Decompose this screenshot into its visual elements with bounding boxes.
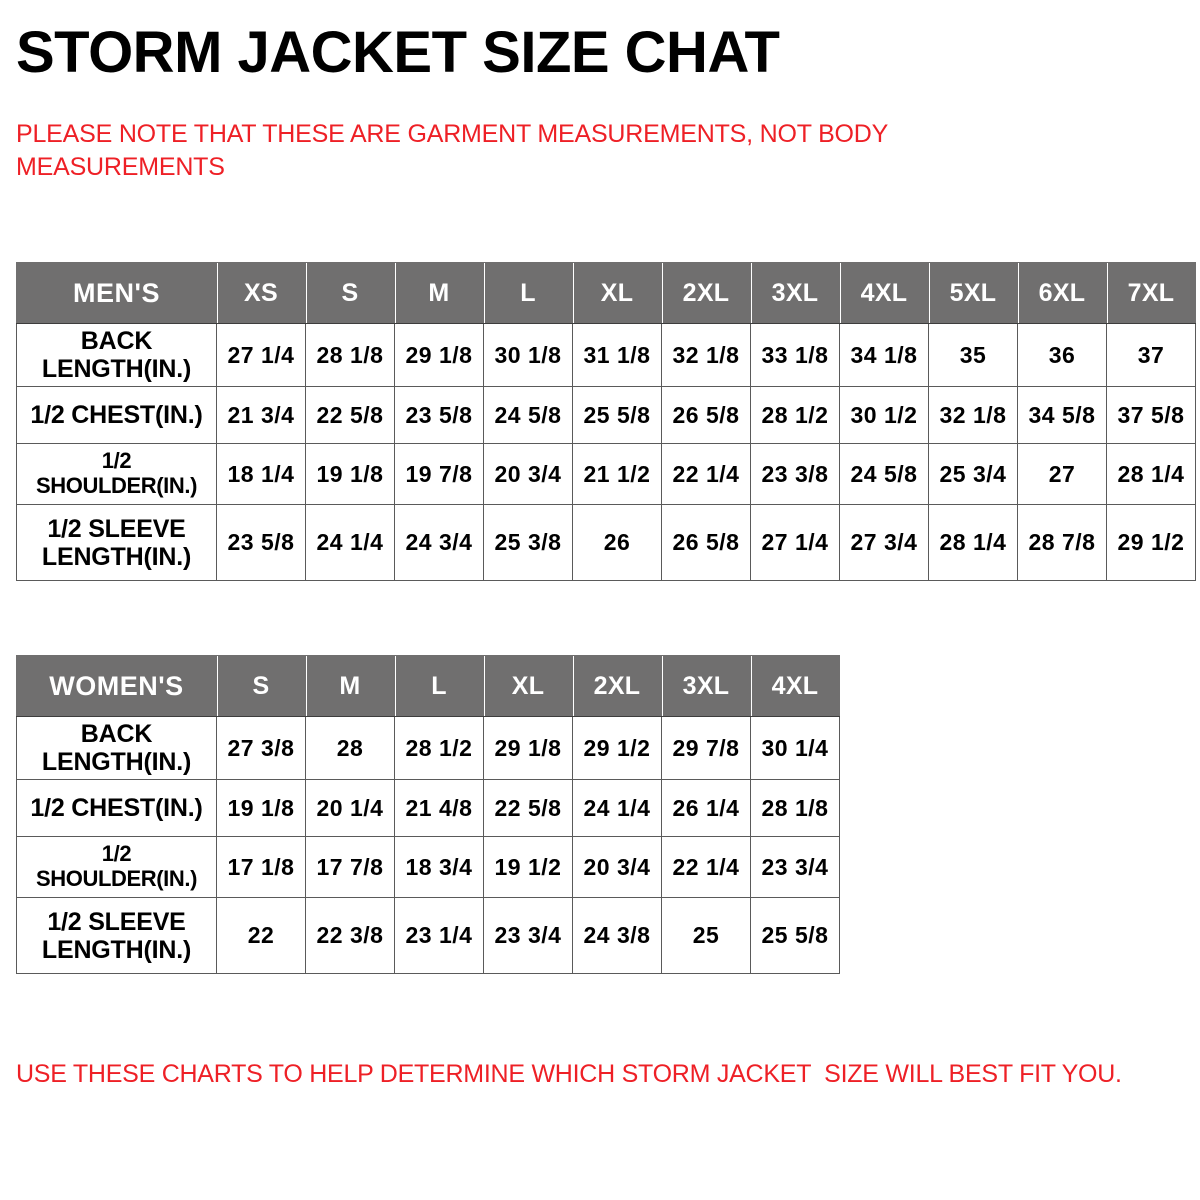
cell-shoulder-2xl: 22 1/4 [662, 444, 751, 505]
label-line-1: 1/2 SLEEVE [19, 515, 214, 543]
cell-w-sleeve-l: 23 1/4 [395, 898, 484, 974]
mens-col-header-2xl: 2XL [662, 263, 751, 324]
cell-shoulder-xs: 18 1/4 [217, 444, 306, 505]
womens-col-header-2xl: 2XL [573, 656, 662, 717]
womens-size-table: WOMEN'S S M L XL 2XL 3XL 4XL BACK LENGTH… [16, 655, 840, 974]
cell-sleeve-5xl: 28 1/4 [929, 505, 1018, 581]
mens-col-header-l: L [484, 263, 573, 324]
cell-shoulder-xl: 21 1/2 [573, 444, 662, 505]
mens-col-header-m: M [395, 263, 484, 324]
label-line-2: LENGTH(IN.) [19, 543, 214, 571]
cell-back-3xl: 33 1/8 [751, 324, 840, 387]
cell-w-shoulder-l: 18 3/4 [395, 837, 484, 898]
cell-sleeve-s: 24 1/4 [306, 505, 395, 581]
cell-w-back-m: 28 [306, 717, 395, 780]
cell-shoulder-6xl: 27 [1018, 444, 1107, 505]
womens-table-head: WOMEN'S S M L XL 2XL 3XL 4XL [17, 656, 840, 717]
mens-col-header-s: S [306, 263, 395, 324]
cell-sleeve-3xl: 27 1/4 [751, 505, 840, 581]
womens-col-header-s: S [217, 656, 306, 717]
womens-row-label-shoulder: 1/2 SHOULDER(IN.) [17, 837, 217, 898]
cell-chest-2xl: 26 5/8 [662, 387, 751, 444]
cell-shoulder-3xl: 23 3/8 [751, 444, 840, 505]
cell-w-back-4xl: 30 1/4 [751, 717, 840, 780]
cell-shoulder-7xl: 28 1/4 [1107, 444, 1196, 505]
cell-chest-6xl: 34 5/8 [1018, 387, 1107, 444]
cell-chest-7xl: 37 5/8 [1107, 387, 1196, 444]
garment-measurement-note: PLEASE NOTE THAT THESE ARE GARMENT MEASU… [16, 118, 976, 184]
womens-header-row: WOMEN'S S M L XL 2XL 3XL 4XL [17, 656, 840, 717]
mens-table-head: MEN'S XS S M L XL 2XL 3XL 4XL 5XL 6XL 7X… [17, 263, 1196, 324]
mens-row-label-shoulder: 1/2 SHOULDER(IN.) [17, 444, 217, 505]
cell-w-shoulder-s: 17 1/8 [217, 837, 306, 898]
mens-col-header-3xl: 3XL [751, 263, 840, 324]
womens-col-header-3xl: 3XL [662, 656, 751, 717]
table-row: 1/2 SHOULDER(IN.) 18 1/4 19 1/8 19 7/8 2… [17, 444, 1196, 505]
table-row: 1/2 SLEEVE LENGTH(IN.) 22 22 3/8 23 1/4 … [17, 898, 840, 974]
table-row: BACK LENGTH(IN.) 27 3/8 28 28 1/2 29 1/8… [17, 717, 840, 780]
cell-w-sleeve-2xl: 24 3/8 [573, 898, 662, 974]
cell-back-2xl: 32 1/8 [662, 324, 751, 387]
cell-w-shoulder-2xl: 20 3/4 [573, 837, 662, 898]
mens-row-label-back-length: BACK LENGTH(IN.) [17, 324, 217, 387]
womens-row-label-chest: 1/2 CHEST(IN.) [17, 780, 217, 837]
cell-chest-xs: 21 3/4 [217, 387, 306, 444]
cell-chest-xl: 25 5/8 [573, 387, 662, 444]
womens-row-label-back-length: BACK LENGTH(IN.) [17, 717, 217, 780]
cell-chest-5xl: 32 1/8 [929, 387, 1018, 444]
fit-guidance-note: USE THESE CHARTS TO HELP DETERMINE WHICH… [16, 1058, 1176, 1091]
cell-w-sleeve-xl: 23 3/4 [484, 898, 573, 974]
label-line-1: BACK [19, 720, 214, 748]
cell-w-sleeve-3xl: 25 [662, 898, 751, 974]
cell-chest-m: 23 5/8 [395, 387, 484, 444]
cell-w-chest-s: 19 1/8 [217, 780, 306, 837]
cell-w-sleeve-m: 22 3/8 [306, 898, 395, 974]
cell-w-back-2xl: 29 1/2 [573, 717, 662, 780]
mens-row-label-sleeve-length: 1/2 SLEEVE LENGTH(IN.) [17, 505, 217, 581]
mens-size-table: MEN'S XS S M L XL 2XL 3XL 4XL 5XL 6XL 7X… [16, 262, 1196, 581]
mens-col-header-xl: XL [573, 263, 662, 324]
table-row: 1/2 SLEEVE LENGTH(IN.) 23 5/8 24 1/4 24 … [17, 505, 1196, 581]
size-chart-page: STORM JACKET SIZE CHAT PLEASE NOTE THAT … [0, 0, 1200, 1200]
cell-w-shoulder-m: 17 7/8 [306, 837, 395, 898]
cell-w-chest-2xl: 24 1/4 [573, 780, 662, 837]
cell-w-shoulder-3xl: 22 1/4 [662, 837, 751, 898]
cell-sleeve-4xl: 27 3/4 [840, 505, 929, 581]
cell-w-back-s: 27 3/8 [217, 717, 306, 780]
table-row: 1/2 SHOULDER(IN.) 17 1/8 17 7/8 18 3/4 1… [17, 837, 840, 898]
cell-shoulder-5xl: 25 3/4 [929, 444, 1018, 505]
mens-col-header-6xl: 6XL [1018, 263, 1107, 324]
mens-table-body: BACK LENGTH(IN.) 27 1/4 28 1/8 29 1/8 30… [17, 324, 1196, 581]
cell-back-m: 29 1/8 [395, 324, 484, 387]
cell-shoulder-4xl: 24 5/8 [840, 444, 929, 505]
womens-col-header-m: M [306, 656, 395, 717]
cell-chest-3xl: 28 1/2 [751, 387, 840, 444]
label-line-2: LENGTH(IN.) [19, 936, 214, 964]
womens-corner-label: WOMEN'S [17, 656, 217, 717]
cell-back-4xl: 34 1/8 [840, 324, 929, 387]
cell-w-back-l: 28 1/2 [395, 717, 484, 780]
cell-sleeve-xs: 23 5/8 [217, 505, 306, 581]
page-title: STORM JACKET SIZE CHAT [16, 23, 779, 84]
mens-header-row: MEN'S XS S M L XL 2XL 3XL 4XL 5XL 6XL 7X… [17, 263, 1196, 324]
cell-shoulder-m: 19 7/8 [395, 444, 484, 505]
womens-col-header-xl: XL [484, 656, 573, 717]
cell-w-shoulder-4xl: 23 3/4 [751, 837, 840, 898]
womens-col-header-l: L [395, 656, 484, 717]
cell-back-xs: 27 1/4 [217, 324, 306, 387]
cell-sleeve-6xl: 28 7/8 [1018, 505, 1107, 581]
mens-col-header-4xl: 4XL [840, 263, 929, 324]
table-row: 1/2 CHEST(IN.) 19 1/8 20 1/4 21 4/8 22 5… [17, 780, 840, 837]
cell-w-shoulder-xl: 19 1/2 [484, 837, 573, 898]
mens-row-label-chest: 1/2 CHEST(IN.) [17, 387, 217, 444]
cell-w-chest-xl: 22 5/8 [484, 780, 573, 837]
cell-sleeve-xl: 26 [573, 505, 662, 581]
cell-sleeve-2xl: 26 5/8 [662, 505, 751, 581]
label-line-1: BACK [19, 327, 214, 355]
cell-shoulder-l: 20 3/4 [484, 444, 573, 505]
cell-w-back-xl: 29 1/8 [484, 717, 573, 780]
mens-col-header-7xl: 7XL [1107, 263, 1196, 324]
womens-col-header-4xl: 4XL [751, 656, 840, 717]
label-line-2: LENGTH(IN.) [19, 748, 214, 776]
cell-chest-l: 24 5/8 [484, 387, 573, 444]
table-row: BACK LENGTH(IN.) 27 1/4 28 1/8 29 1/8 30… [17, 324, 1196, 387]
cell-back-xl: 31 1/8 [573, 324, 662, 387]
mens-corner-label: MEN'S [17, 263, 217, 324]
cell-w-chest-l: 21 4/8 [395, 780, 484, 837]
cell-w-back-3xl: 29 7/8 [662, 717, 751, 780]
womens-table-body: BACK LENGTH(IN.) 27 3/8 28 28 1/2 29 1/8… [17, 717, 840, 974]
cell-back-l: 30 1/8 [484, 324, 573, 387]
cell-w-chest-m: 20 1/4 [306, 780, 395, 837]
mens-col-header-xs: XS [217, 263, 306, 324]
label-line-1: 1/2 SLEEVE [19, 908, 214, 936]
cell-sleeve-l: 25 3/8 [484, 505, 573, 581]
label-line-2: LENGTH(IN.) [19, 355, 214, 383]
cell-w-chest-3xl: 26 1/4 [662, 780, 751, 837]
table-row: 1/2 CHEST(IN.) 21 3/4 22 5/8 23 5/8 24 5… [17, 387, 1196, 444]
cell-sleeve-7xl: 29 1/2 [1107, 505, 1196, 581]
womens-row-label-sleeve-length: 1/2 SLEEVE LENGTH(IN.) [17, 898, 217, 974]
cell-sleeve-m: 24 3/4 [395, 505, 484, 581]
cell-w-chest-4xl: 28 1/8 [751, 780, 840, 837]
mens-col-header-5xl: 5XL [929, 263, 1018, 324]
cell-back-7xl: 37 [1107, 324, 1196, 387]
cell-w-sleeve-4xl: 25 5/8 [751, 898, 840, 974]
cell-shoulder-s: 19 1/8 [306, 444, 395, 505]
cell-w-sleeve-s: 22 [217, 898, 306, 974]
cell-back-5xl: 35 [929, 324, 1018, 387]
cell-back-s: 28 1/8 [306, 324, 395, 387]
cell-chest-4xl: 30 1/2 [840, 387, 929, 444]
cell-chest-s: 22 5/8 [306, 387, 395, 444]
cell-back-6xl: 36 [1018, 324, 1107, 387]
